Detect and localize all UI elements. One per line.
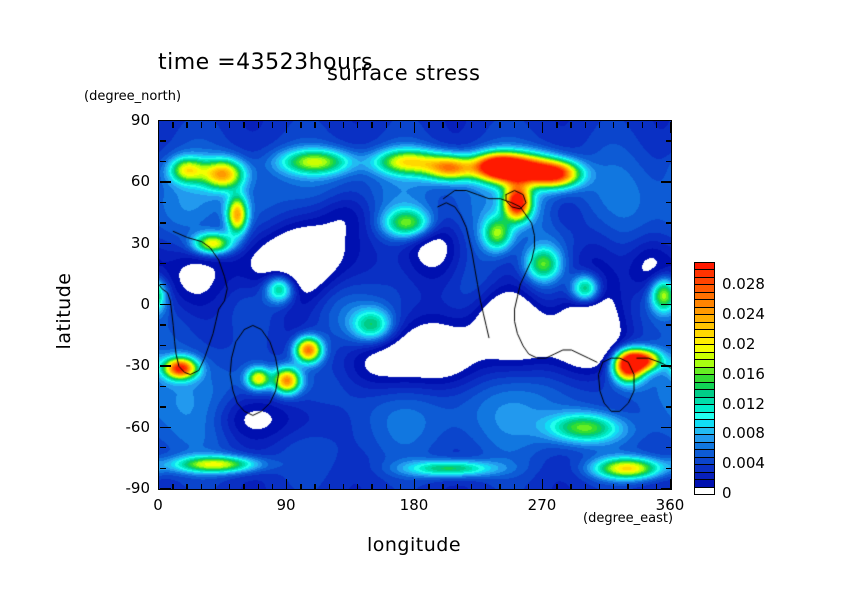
axis-tick bbox=[656, 122, 657, 128]
colorbar-band bbox=[695, 285, 714, 292]
colorbar-tick-label: 0 bbox=[722, 484, 732, 502]
axis-tick bbox=[542, 122, 543, 133]
axis-tick bbox=[666, 263, 672, 264]
colorbar-tick-label: 0.024 bbox=[722, 305, 765, 323]
colorbar-band bbox=[695, 300, 714, 307]
axis-tick bbox=[229, 484, 230, 490]
colorbar-band bbox=[695, 428, 714, 435]
plot-title-variable: surface stress bbox=[327, 61, 480, 85]
axis-tick bbox=[160, 386, 166, 387]
axis-tick bbox=[661, 181, 672, 182]
axis-tick bbox=[471, 484, 472, 490]
axis-tick bbox=[585, 122, 586, 128]
axis-tick bbox=[371, 484, 372, 490]
axis-tick bbox=[585, 484, 586, 490]
axis-tick bbox=[442, 484, 443, 490]
axis-tick bbox=[570, 122, 571, 128]
axis-tick-label: -60 bbox=[100, 418, 150, 436]
colorbar-band bbox=[695, 353, 714, 360]
axis-tick-label: -30 bbox=[100, 356, 150, 374]
axis-tick bbox=[258, 122, 259, 128]
axis-tick bbox=[160, 406, 166, 407]
axis-tick-label: 30 bbox=[100, 234, 150, 252]
axis-tick bbox=[570, 484, 571, 490]
axis-tick bbox=[661, 243, 672, 244]
axis-tick bbox=[160, 488, 171, 489]
colorbar-band bbox=[695, 263, 714, 270]
axis-tick bbox=[201, 122, 202, 128]
colorbar-band bbox=[695, 375, 714, 382]
axis-tick bbox=[160, 468, 166, 469]
axis-tick bbox=[160, 284, 166, 285]
axis-tick bbox=[514, 122, 515, 128]
axis-tick bbox=[172, 122, 173, 128]
axis-tick bbox=[386, 122, 387, 128]
axis-tick bbox=[485, 484, 486, 490]
axis-tick-label: 360 bbox=[630, 496, 710, 514]
colorbar-band bbox=[695, 398, 714, 405]
axis-tick bbox=[160, 140, 166, 141]
axis-tick-label: 90 bbox=[246, 496, 326, 514]
colorbar-band bbox=[695, 465, 714, 472]
colorbar-band bbox=[695, 488, 714, 494]
axis-tick bbox=[186, 122, 187, 128]
colorbar-tick-label: 0.004 bbox=[722, 454, 765, 472]
axis-tick bbox=[314, 122, 315, 128]
colorbar-band bbox=[695, 390, 714, 397]
axis-tick bbox=[286, 122, 287, 133]
axis-tick bbox=[160, 365, 171, 366]
axis-tick bbox=[428, 484, 429, 490]
colorbar-band bbox=[695, 420, 714, 427]
axis-tick bbox=[160, 120, 171, 121]
colorbar-tick-label: 0.02 bbox=[722, 335, 755, 353]
axis-tick bbox=[661, 488, 672, 489]
axis-tick bbox=[556, 122, 557, 128]
colorbar-band bbox=[695, 480, 714, 487]
axis-tick bbox=[428, 122, 429, 128]
axis-tick bbox=[160, 427, 171, 428]
colorbar bbox=[694, 262, 715, 495]
axis-tick bbox=[243, 122, 244, 128]
axis-tick bbox=[357, 122, 358, 128]
axis-tick-label: 90 bbox=[100, 111, 150, 129]
axis-tick bbox=[243, 484, 244, 490]
axis-tick bbox=[386, 484, 387, 490]
axis-tick bbox=[599, 122, 600, 128]
axis-tick bbox=[158, 122, 159, 133]
axis-tick bbox=[661, 304, 672, 305]
axis-tick bbox=[457, 122, 458, 128]
axis-tick bbox=[160, 243, 171, 244]
axis-tick bbox=[666, 324, 672, 325]
axis-tick bbox=[400, 122, 401, 128]
axis-tick-label: -90 bbox=[100, 479, 150, 497]
colorbar-tick-label: 0.028 bbox=[722, 275, 765, 293]
axis-tick bbox=[371, 122, 372, 128]
axis-tick bbox=[160, 202, 166, 203]
axis-tick bbox=[272, 484, 273, 490]
colorbar-band bbox=[695, 330, 714, 337]
axis-tick bbox=[258, 484, 259, 490]
axis-tick bbox=[286, 479, 287, 490]
axis-tick-label: 0 bbox=[118, 496, 198, 514]
axis-tick bbox=[666, 161, 672, 162]
axis-tick bbox=[357, 484, 358, 490]
axis-tick bbox=[666, 345, 672, 346]
colorbar-band bbox=[695, 315, 714, 322]
axis-tick bbox=[661, 427, 672, 428]
colorbar-band bbox=[695, 293, 714, 300]
axis-tick bbox=[642, 484, 643, 490]
axis-tick bbox=[414, 479, 415, 490]
axis-tick bbox=[661, 365, 672, 366]
axis-tick bbox=[442, 122, 443, 128]
colorbar-band bbox=[695, 405, 714, 412]
colorbar-band bbox=[695, 278, 714, 285]
axis-tick bbox=[160, 345, 166, 346]
axis-tick bbox=[485, 122, 486, 128]
axis-tick bbox=[457, 484, 458, 490]
axis-tick bbox=[670, 122, 671, 133]
axis-tick bbox=[160, 263, 166, 264]
axis-tick bbox=[201, 484, 202, 490]
colorbar-band bbox=[695, 338, 714, 345]
axis-tick bbox=[613, 484, 614, 490]
axis-tick bbox=[215, 484, 216, 490]
axis-tick bbox=[599, 484, 600, 490]
axis-tick bbox=[329, 122, 330, 128]
axis-tick-label: 0 bbox=[100, 295, 150, 313]
axis-tick bbox=[160, 447, 166, 448]
axis-tick bbox=[514, 484, 515, 490]
axis-tick bbox=[160, 324, 166, 325]
axis-tick bbox=[160, 222, 166, 223]
axis-tick bbox=[300, 484, 301, 490]
axis-tick bbox=[656, 484, 657, 490]
y-axis-unit-label: (degree_north) bbox=[84, 89, 181, 104]
colorbar-band bbox=[695, 443, 714, 450]
colorbar-band bbox=[695, 323, 714, 330]
axis-tick bbox=[627, 122, 628, 128]
axis-tick bbox=[160, 304, 171, 305]
axis-tick bbox=[400, 484, 401, 490]
axis-tick bbox=[642, 122, 643, 128]
colorbar-band bbox=[695, 473, 714, 480]
colorbar-band bbox=[695, 345, 714, 352]
axis-tick bbox=[300, 122, 301, 128]
contour-plot-area bbox=[158, 120, 672, 490]
colorbar-band bbox=[695, 308, 714, 315]
axis-tick bbox=[172, 484, 173, 490]
axis-tick bbox=[343, 122, 344, 128]
axis-tick bbox=[272, 122, 273, 128]
axis-tick bbox=[666, 140, 672, 141]
axis-tick-label: 270 bbox=[502, 496, 582, 514]
axis-tick bbox=[528, 484, 529, 490]
x-axis-title: longitude bbox=[0, 534, 828, 556]
axis-tick bbox=[556, 484, 557, 490]
axis-tick bbox=[666, 386, 672, 387]
axis-tick bbox=[666, 468, 672, 469]
axis-tick bbox=[186, 484, 187, 490]
axis-tick bbox=[229, 122, 230, 128]
colorbar-tick-label: 0.016 bbox=[722, 365, 765, 383]
colorbar-band bbox=[695, 458, 714, 465]
axis-tick bbox=[627, 484, 628, 490]
axis-tick bbox=[613, 122, 614, 128]
colorbar-band bbox=[695, 360, 714, 367]
axis-tick bbox=[661, 120, 672, 121]
axis-tick bbox=[666, 284, 672, 285]
colorbar-band bbox=[695, 450, 714, 457]
colorbar-band bbox=[695, 435, 714, 442]
axis-tick bbox=[343, 484, 344, 490]
axis-tick bbox=[160, 181, 171, 182]
colorbar-tick-label: 0.012 bbox=[722, 395, 765, 413]
colorbar-band bbox=[695, 413, 714, 420]
axis-tick-label: 180 bbox=[374, 496, 454, 514]
axis-tick-label: 60 bbox=[100, 172, 150, 190]
colorbar-band bbox=[695, 368, 714, 375]
stress-heatmap-canvas bbox=[159, 121, 671, 489]
axis-tick bbox=[414, 122, 415, 133]
axis-tick bbox=[666, 406, 672, 407]
axis-tick bbox=[528, 122, 529, 128]
axis-tick bbox=[329, 484, 330, 490]
axis-tick bbox=[499, 122, 500, 128]
axis-tick bbox=[471, 122, 472, 128]
axis-tick bbox=[666, 202, 672, 203]
axis-tick bbox=[666, 447, 672, 448]
colorbar-tick-label: 0.008 bbox=[722, 424, 765, 442]
axis-tick bbox=[314, 484, 315, 490]
axis-tick bbox=[542, 479, 543, 490]
axis-tick bbox=[666, 222, 672, 223]
axis-tick bbox=[160, 161, 166, 162]
colorbar-band bbox=[695, 270, 714, 277]
axis-tick bbox=[499, 484, 500, 490]
y-axis-title: latitude bbox=[53, 231, 75, 391]
colorbar-band bbox=[695, 383, 714, 390]
axis-tick bbox=[215, 122, 216, 128]
